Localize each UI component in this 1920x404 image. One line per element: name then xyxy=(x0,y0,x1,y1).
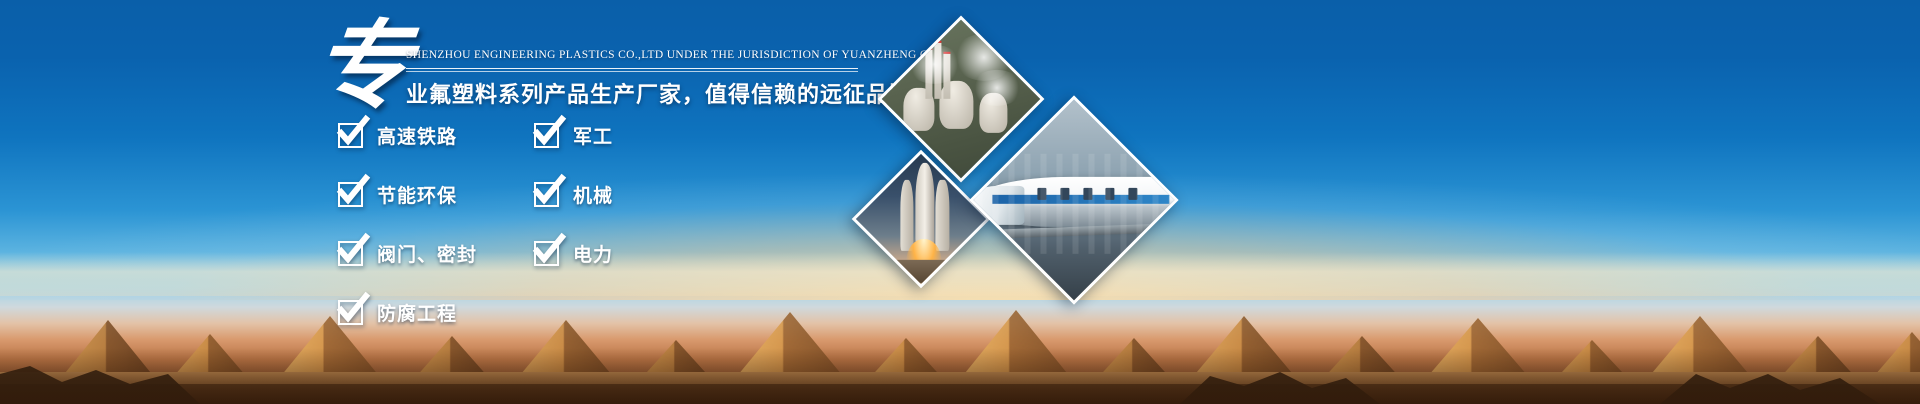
feature-item[interactable]: 军工 xyxy=(534,118,613,152)
feature-column-left: 高速铁路 节能环保 阀门、密封 防腐工程 xyxy=(338,118,477,354)
feature-item-label: 机械 xyxy=(573,181,613,208)
ground-shadow xyxy=(0,348,1920,404)
promotional-banner: 专 SHENZHOU ENGINEERING PLASTICS CO.,LTD … xyxy=(0,0,1920,404)
feature-item[interactable]: 机械 xyxy=(534,177,613,211)
showcase-gallery xyxy=(820,22,1240,292)
feature-item[interactable]: 电力 xyxy=(534,236,613,270)
checkbox-checked-icon xyxy=(534,123,559,148)
feature-item[interactable]: 节能环保 xyxy=(338,177,477,211)
feature-item-label: 节能环保 xyxy=(377,181,457,208)
feature-column-right: 军工 机械 电力 xyxy=(534,118,613,295)
feature-item[interactable]: 阀门、密封 xyxy=(338,236,477,270)
feature-item-label: 防腐工程 xyxy=(377,299,457,326)
feature-item-label: 阀门、密封 xyxy=(377,240,477,267)
brand-logo-character: 专 xyxy=(309,18,415,114)
checkbox-checked-icon xyxy=(338,300,363,325)
checkbox-checked-icon xyxy=(338,123,363,148)
checkbox-checked-icon xyxy=(534,241,559,266)
feature-item-label: 军工 xyxy=(573,122,613,149)
checkbox-checked-icon xyxy=(338,182,363,207)
checkbox-checked-icon xyxy=(534,182,559,207)
feature-item[interactable]: 高速铁路 xyxy=(338,118,477,152)
divider-rule xyxy=(406,68,858,73)
brand-header: 专 SHENZHOU ENGINEERING PLASTICS CO.,LTD … xyxy=(300,18,900,116)
feature-item-label: 高速铁路 xyxy=(377,122,457,149)
checkbox-checked-icon xyxy=(338,241,363,266)
feature-item[interactable]: 防腐工程 xyxy=(338,295,477,329)
feature-item-label: 电力 xyxy=(573,240,613,267)
